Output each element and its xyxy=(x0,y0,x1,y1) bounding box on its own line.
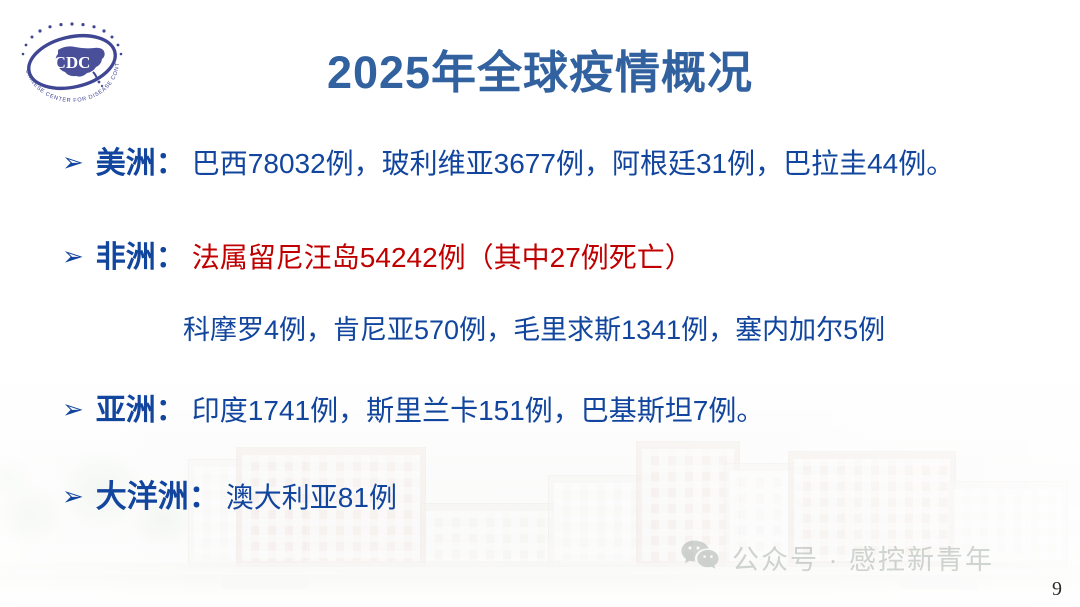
arrow-bullet-icon: ➢ xyxy=(62,243,84,269)
region-label-oceania: 大洋洲： xyxy=(96,471,220,516)
region-detail-oceania: 澳大利亚81例 xyxy=(226,476,397,516)
region-label-africa: 非洲： xyxy=(96,232,186,276)
photo-car xyxy=(222,575,308,589)
region-label-asia: 亚洲： xyxy=(96,385,186,429)
watermark-text: 公众号 · 感控新青年 xyxy=(732,538,994,577)
photo-car xyxy=(900,575,978,589)
region-label-americas: 美洲： xyxy=(96,138,186,182)
photo-lawn xyxy=(0,575,1080,591)
slide: CDC CHINESE CENTER FOR DISEASE CONTROL A… xyxy=(0,0,1080,607)
arrow-bullet-icon: ➢ xyxy=(62,396,84,422)
wechat-icon xyxy=(680,538,720,577)
arrow-bullet-icon: ➢ xyxy=(62,483,84,509)
bullet-line-oceania: ➢ 大洋洲： 澳大利亚81例 xyxy=(0,471,1080,516)
bullet-line-africa-continuation: 科摩罗4例，肯尼亚570例，毛里求斯1341例，塞内加尔5例 xyxy=(0,308,1080,347)
region-detail-americas: 巴西78032例，玻利维亚3677例，阿根廷31例，巴拉圭44例。 xyxy=(192,142,954,182)
region-detail-africa-continuation: 科摩罗4例，肯尼亚570例，毛里求斯1341例，塞内加尔5例 xyxy=(183,308,885,347)
arrow-bullet-icon: ➢ xyxy=(62,149,84,175)
wechat-watermark: 公众号 · 感控新青年 xyxy=(680,538,994,577)
region-detail-asia: 印度1741例，斯里兰卡151例，巴基斯坦7例。 xyxy=(192,389,765,429)
content-body: ➢ 美洲： 巴西78032例，玻利维亚3677例，阿根廷31例，巴拉圭44例。 … xyxy=(0,128,1080,516)
bullet-line-americas: ➢ 美洲： 巴西78032例，玻利维亚3677例，阿根廷31例，巴拉圭44例。 xyxy=(0,138,1080,182)
bullet-line-africa: ➢ 非洲： 法属留尼汪岛54242例（其中27例死亡） xyxy=(0,232,1080,276)
page-title: 2025年全球疫情概况 xyxy=(0,36,1080,101)
region-detail-africa-highlight: 法属留尼汪岛54242例（其中27例死亡） xyxy=(192,236,693,276)
page-number: 9 xyxy=(1052,578,1062,601)
bullet-line-asia: ➢ 亚洲： 印度1741例，斯里兰卡151例，巴基斯坦7例。 xyxy=(0,385,1080,429)
